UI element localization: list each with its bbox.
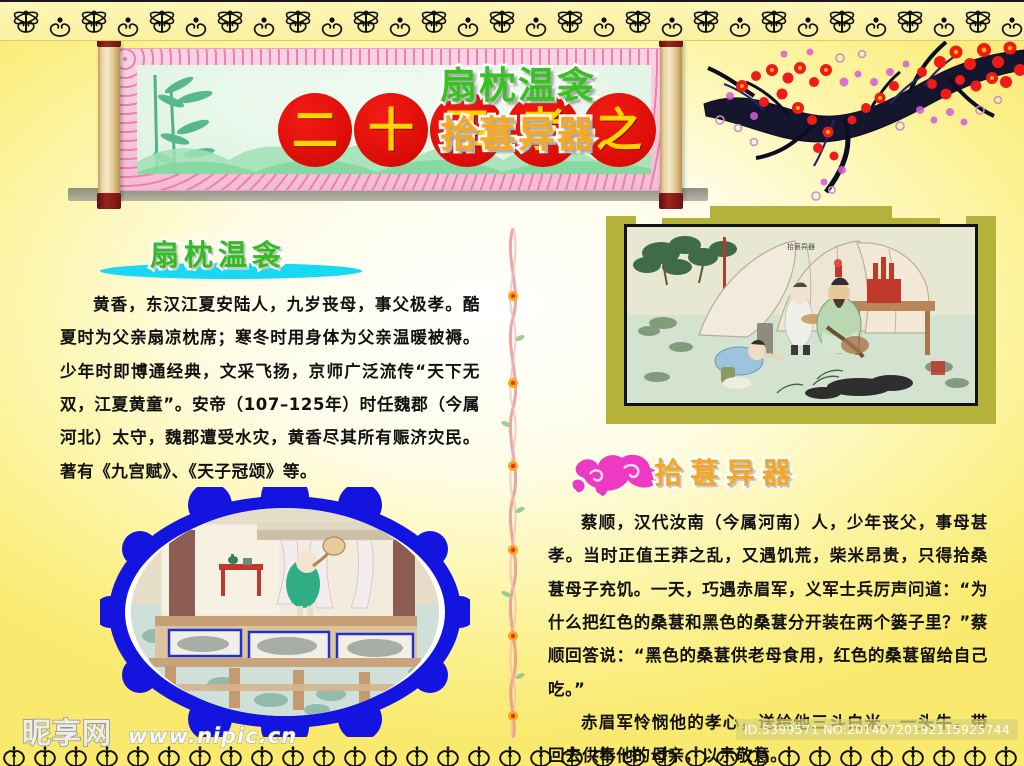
scroll-roller-right (660, 40, 682, 200)
right-painting-image: 拾葚异器 (624, 224, 978, 406)
vine-divider-ornament (500, 228, 526, 738)
painting-caption: 拾葚异器 (787, 242, 815, 251)
left-heading-text: 扇枕温衾 (150, 232, 286, 274)
watermark-id-text: ID:5399571 NO:20140720192115925744 (736, 719, 1018, 740)
roller-cap-bottom-left (97, 193, 121, 209)
banner-headlines: 扇枕温衾 拾葚异器 (440, 62, 596, 160)
magenta-cloud-swirl-icon (570, 446, 666, 502)
right-paragraph-1: 蔡顺，汉代汝南（今属河南）人，少年丧父，事母甚孝。当时正值王莽之乱，又遇饥荒，柴… (548, 506, 988, 706)
right-painting-frame: 拾葚异器 (606, 206, 996, 424)
left-section-heading: 扇枕温衾 (60, 232, 480, 288)
scroll-banner: 二 十 四 孝 之 (52, 38, 722, 203)
watermark-logo: 昵享网 (22, 710, 112, 752)
right-article-column: 拾葚异器 拾葚异器 蔡顺，汉代汝南（今属河南）人，少年丧父，事母甚孝。当时正值王… (540, 206, 992, 766)
top-border-ornament (0, 0, 1024, 41)
right-section-heading: 拾葚异器 (570, 442, 992, 506)
left-illustration-image (131, 508, 439, 716)
top-border-pattern-svg (0, 2, 1024, 40)
scroll-roller-left (98, 40, 120, 200)
seal-char-1: 二 (278, 93, 352, 167)
caishun-painting: 拾葚异器 (627, 227, 975, 403)
poster-canvas: 二 十 四 孝 之 扇枕温衾 拾葚异器 (0, 0, 1024, 766)
right-heading-text: 拾葚异器 (654, 450, 798, 492)
headline-shishen-yiqi: 拾葚异器 (440, 111, 596, 160)
left-article-column: 扇枕温衾 黄香，东汉江夏安陆人，九岁丧母，事父极孝。酷夏时为父亲扇凉枕席；寒冬时… (60, 232, 480, 488)
left-illustration-frame (100, 487, 470, 737)
left-paragraph: 黄香，东汉江夏安陆人，九岁丧母，事父极孝。酷夏时为父亲扇凉枕席；寒冬时用身体为父… (60, 288, 480, 488)
plum-blossom-branch-icon (694, 24, 1024, 214)
huangxiang-fanning-painting (131, 508, 439, 716)
watermark-url: www.nipic.cn (128, 724, 297, 748)
headline-shanzhen-wenqin: 扇枕温衾 (440, 62, 596, 111)
left-body-text: 黄香，东汉江夏安陆人，九岁丧母，事父极孝。酷夏时为父亲扇凉枕席；寒冬时用身体为父… (60, 288, 480, 488)
seal-char-2: 十 (354, 93, 428, 167)
